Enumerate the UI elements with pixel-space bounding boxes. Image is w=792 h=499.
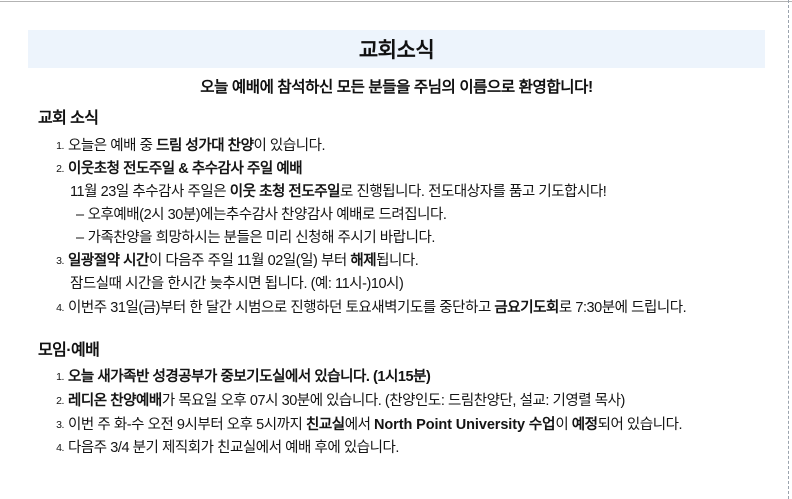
- body-text: 11월 23일 추수감사 주일은: [70, 184, 230, 200]
- announcement-item: 4.이번주 31일(금)부터 한 달간 시범으로 진행하던 토요새벽기도를 중단…: [0, 297, 792, 320]
- emphasis-text: 오늘 새가족반 성경공부가 중보기도실에서 있습니다. (1시15분): [68, 369, 430, 385]
- emphasis-text: 이웃 초청 전도주일: [230, 184, 340, 200]
- item-number: 2.: [50, 158, 64, 181]
- body-text: 됩니다.: [376, 253, 418, 269]
- emphasis-text: 드림 성가대 찬양: [156, 138, 253, 154]
- item-main-line: 다음주 3/4 분기 제직회가 친교실에서 예배 후에 있습니다.: [68, 437, 792, 460]
- item-main-line: 레디온 찬양예배가 목요일 오후 07시 30분에 있습니다. (찬양인도: 드…: [68, 390, 792, 413]
- page-top-rule: [0, 1, 792, 2]
- body-text: 오후예배(2시 30분)에는추수감사 찬양감사 예배로 드려집니다.: [88, 207, 447, 223]
- announcement-item: 3.일광절약 시간이 다음주 주일 11월 02일(일) 부터 해제됩니다.잠드…: [0, 250, 792, 296]
- announcement-item: 4.다음주 3/4 분기 제직회가 친교실에서 예배 후에 있습니다.: [0, 437, 792, 460]
- item-main-line: 오늘은 예배 중 드림 성가대 찬양이 있습니다.: [68, 135, 792, 158]
- item-main-line: 이번 주 화-수 오전 9시부터 오후 5시까지 친교실에서 North Poi…: [68, 414, 792, 437]
- item-main-line: 오늘 새가족반 성경공부가 중보기도실에서 있습니다. (1시15분): [68, 366, 792, 389]
- body-text: 이번 주 화-수 오전 9시부터 오후 5시까지: [68, 417, 306, 433]
- body-text: 로 진행됩니다. 전도대상자를 품고 기도합시다!: [340, 184, 606, 200]
- announcement-item: 3.이번 주 화-수 오전 9시부터 오후 5시까지 친교실에서 North P…: [0, 414, 792, 437]
- welcome-subtitle: 오늘 예배에 참석하신 모든 분들을 주님의 이름으로 환영합니다!: [28, 75, 765, 97]
- body-text: 에서: [345, 417, 374, 433]
- item-main-line: 일광절약 시간이 다음주 주일 11월 02일(일) 부터 해제됩니다.: [68, 250, 792, 273]
- item-continuation-line: 잠드실때 시간을 한시간 늦추시면 됩니다. (예: 11시-)10시): [70, 273, 792, 296]
- body-text: 잠드실때 시간을 한시간 늦추시면 됩니다. (예: 11시-)10시): [70, 276, 403, 292]
- item-number: 3.: [50, 414, 64, 437]
- announcement-section: 교회 소식1.오늘은 예배 중 드림 성가대 찬양이 있습니다.2.이웃초청 전…: [0, 108, 792, 320]
- dash-bullet-icon: –: [76, 207, 84, 223]
- emphasis-text: 일광절약 시간: [68, 253, 149, 269]
- emphasis-text: 친교실: [306, 417, 345, 433]
- emphasis-text: 예정: [572, 417, 598, 433]
- section-heading: 교회 소식: [38, 108, 792, 130]
- dash-bullet-icon: –: [76, 230, 84, 246]
- item-continuation-line: 11월 23일 추수감사 주일은 이웃 초청 전도주일로 진행됩니다. 전도대상…: [70, 181, 792, 204]
- emphasis-text: 금요기도회: [494, 300, 558, 316]
- body-text: 이 다음주 주일 11월 02일(일) 부터: [149, 253, 350, 269]
- emphasis-text: 해제: [350, 253, 376, 269]
- body-text: 오늘은 예배 중: [68, 138, 156, 154]
- item-number: 1.: [50, 366, 64, 389]
- page-title: 교회소식: [359, 34, 434, 64]
- body-text: 이: [555, 417, 571, 433]
- body-text: 가족찬양을 희망하시는 분들은 미리 신청해 주시기 바랍니다.: [88, 230, 435, 246]
- emphasis-text: 레디온 찬양예배: [68, 393, 162, 409]
- announcement-section: 모임·예배1.오늘 새가족반 성경공부가 중보기도실에서 있습니다. (1시15…: [0, 340, 792, 461]
- emphasis-text: North Point University 수업: [374, 417, 555, 433]
- emphasis-text: 이웃초청 전도주일 & 추수감사 주일 예배: [68, 161, 302, 177]
- item-number: 3.: [50, 250, 64, 273]
- item-number: 2.: [50, 390, 64, 413]
- item-sub-bullet-line: –오후예배(2시 30분)에는추수감사 찬양감사 예배로 드려집니다.: [76, 204, 792, 227]
- announcement-page: 교회소식 오늘 예배에 참석하신 모든 분들을 주님의 이름으로 환영합니다! …: [0, 0, 792, 499]
- item-number: 4.: [50, 437, 64, 460]
- item-sub-bullet-line: –가족찬양을 희망하시는 분들은 미리 신청해 주시기 바랍니다.: [76, 227, 792, 250]
- body-text: 가 목요일 오후 07시 30분에 있습니다. (찬양인도: 드림찬양단, 설교…: [162, 393, 625, 409]
- body-text: 되어 있습니다.: [598, 417, 683, 433]
- header-banner: 교회소식: [28, 30, 765, 68]
- announcement-item: 2.이웃초청 전도주일 & 추수감사 주일 예배11월 23일 추수감사 주일은…: [0, 158, 792, 249]
- announcement-item: 1.오늘 새가족반 성경공부가 중보기도실에서 있습니다. (1시15분): [0, 366, 792, 389]
- body-text: 로 7:30분에 드립니다.: [559, 300, 686, 316]
- announcement-item: 1.오늘은 예배 중 드림 성가대 찬양이 있습니다.: [0, 135, 792, 158]
- item-main-line: 이웃초청 전도주일 & 추수감사 주일 예배: [68, 158, 792, 181]
- item-number: 4.: [50, 297, 64, 320]
- section-heading: 모임·예배: [38, 340, 792, 362]
- item-main-line: 이번주 31일(금)부터 한 달간 시범으로 진행하던 토요새벽기도를 중단하고…: [68, 297, 792, 320]
- body-text: 이 있습니다.: [253, 138, 325, 154]
- item-number: 1.: [50, 135, 64, 158]
- announcement-item: 2.레디온 찬양예배가 목요일 오후 07시 30분에 있습니다. (찬양인도:…: [0, 390, 792, 413]
- body-text: 이번주 31일(금)부터 한 달간 시범으로 진행하던 토요새벽기도를 중단하고: [68, 300, 494, 316]
- body-text: 다음주 3/4 분기 제직회가 친교실에서 예배 후에 있습니다.: [68, 440, 399, 456]
- announcements-body: 교회 소식1.오늘은 예배 중 드림 성가대 찬양이 있습니다.2.이웃초청 전…: [0, 108, 792, 461]
